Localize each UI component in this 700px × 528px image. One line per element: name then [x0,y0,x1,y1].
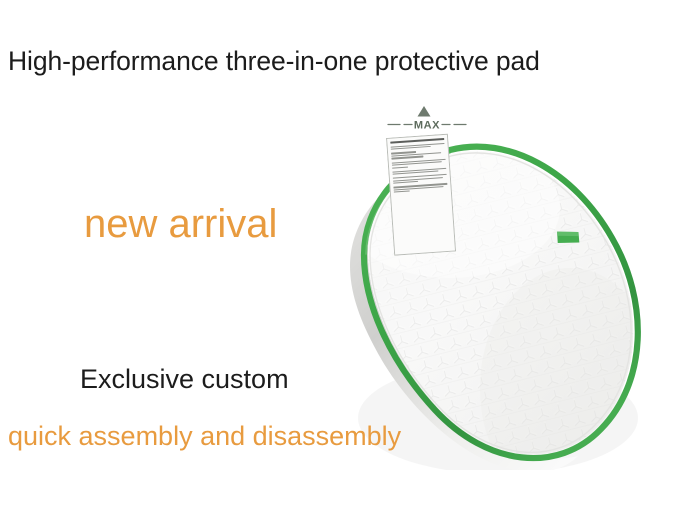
tagline-quick-assembly: quick assembly and disassembly [8,419,401,453]
max-marker: MAX [388,106,466,132]
instruction-label-text [386,134,456,256]
max-label: MAX [414,120,440,132]
product-image: MAX [330,88,670,470]
tagline-new-arrival: new arrival [84,198,277,250]
promo-banner: MAX High-performance three [0,0,700,528]
instruction-label [386,134,456,256]
page-title: High-performance three-in-one protective… [8,44,540,78]
tagline-exclusive-custom: Exclusive custom [80,362,289,396]
up-triangle-icon [418,106,431,117]
